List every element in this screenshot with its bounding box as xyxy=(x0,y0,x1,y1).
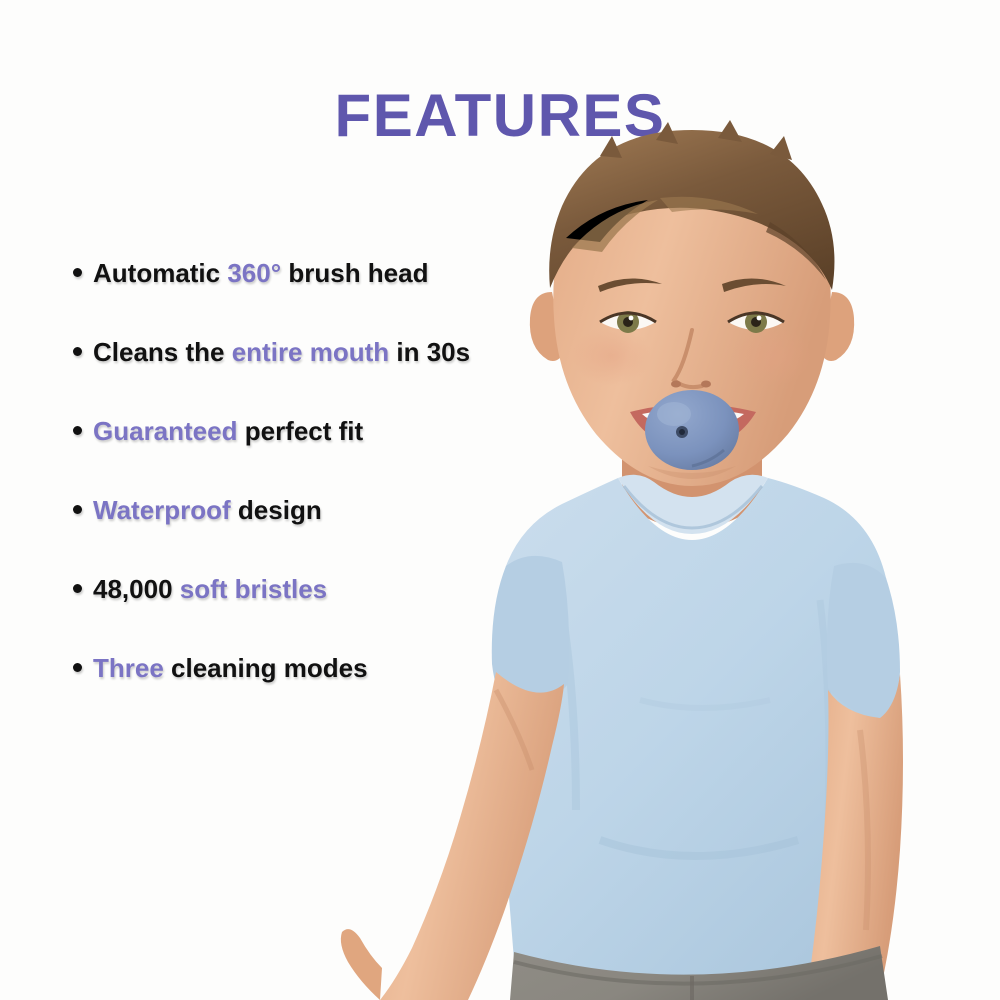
mouthpiece-device xyxy=(645,390,739,470)
cheek-left xyxy=(572,326,652,386)
feature-text-highlight: Guaranteed xyxy=(93,416,238,446)
feature-text: 48,000 soft bristles xyxy=(93,574,327,604)
nostril-left xyxy=(671,381,681,388)
nostril-right xyxy=(701,381,711,388)
feature-text: Waterproof design xyxy=(93,495,322,525)
feature-text-highlight: Three xyxy=(93,653,164,683)
bullet-dot-icon xyxy=(73,268,82,277)
feature-panel: FEATURES Automatic 360° brush head Clean… xyxy=(0,0,1000,1000)
bullet-dot-icon xyxy=(73,584,82,593)
boy-with-mouthpiece-illustration xyxy=(300,0,1000,1000)
device-hole-inner xyxy=(679,429,685,435)
device-highlight xyxy=(657,402,691,426)
feature-text-highlight: 360° xyxy=(227,258,281,288)
cheek-right xyxy=(732,326,812,386)
feature-text-highlight: Waterproof xyxy=(93,495,231,525)
bullet-dot-icon xyxy=(73,505,82,514)
right-sleeve xyxy=(827,563,900,718)
feature-text-pre: Cleans the xyxy=(93,337,232,367)
bullet-dot-icon xyxy=(73,426,82,435)
feature-text-pre: 48,000 xyxy=(93,574,180,604)
bullet-dot-icon xyxy=(73,663,82,672)
feature-text-pre: Automatic xyxy=(93,258,227,288)
product-photo xyxy=(300,0,1000,1000)
bullet-dot-icon xyxy=(73,347,82,356)
left-hand xyxy=(341,929,382,1000)
